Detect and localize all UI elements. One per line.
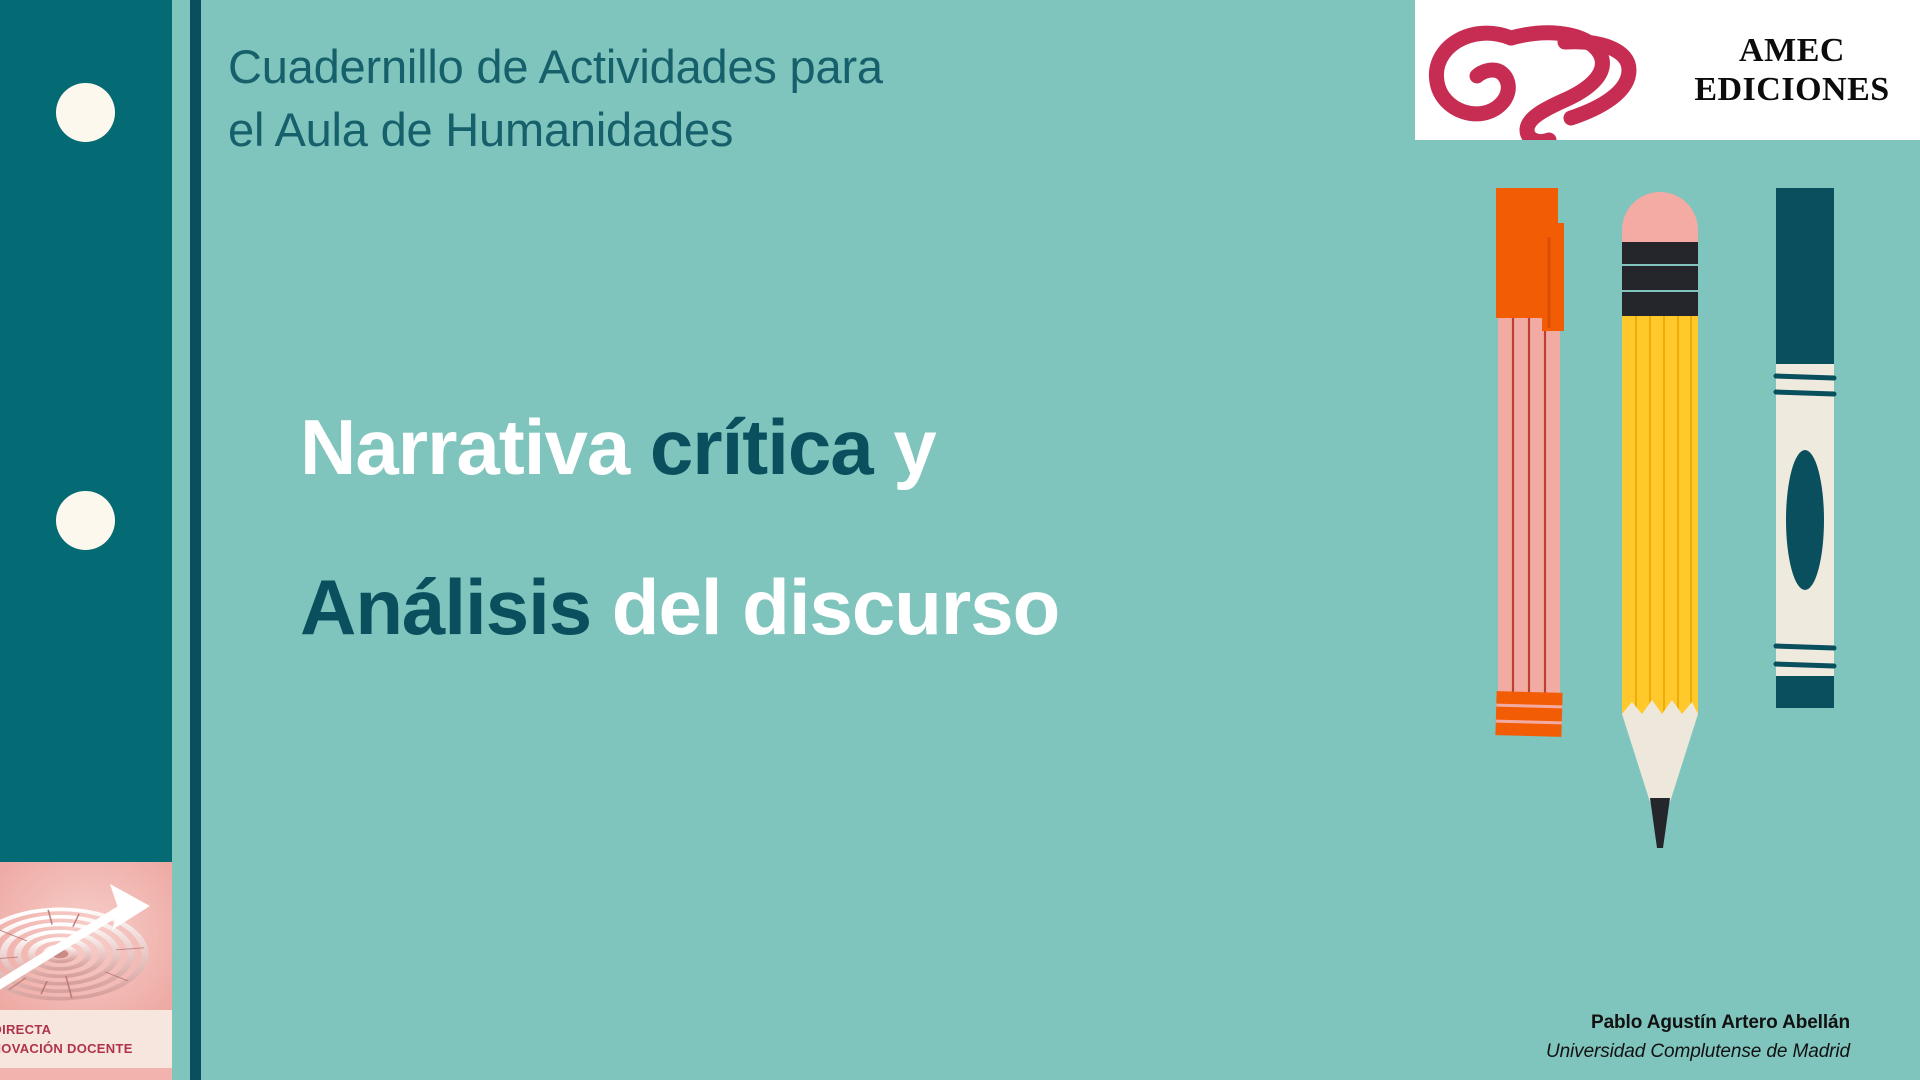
teal-marker — [1776, 188, 1834, 708]
author-name: Pablo Agustín Artero Abellán — [1546, 1009, 1850, 1038]
title-word-narrativa: Narrativa — [300, 403, 650, 491]
badge-text-panel: TA DIRECTA INNOVACIÓN DOCENTE — [0, 1010, 172, 1068]
yellow-pencil — [1622, 192, 1698, 848]
header-subtitle-line-1: Cuadernillo de Actividades para — [228, 36, 1128, 99]
logo-text-line-1: AMEC — [1670, 31, 1914, 70]
header-subtitle: Cuadernillo de Actividades para el Aula … — [228, 36, 1128, 161]
title-word-y: y — [873, 403, 936, 491]
publisher-logo: AMEC EDICIONES — [1415, 0, 1920, 140]
author-affiliation: Universidad Complutense de Madrid — [1546, 1038, 1850, 1067]
maze-with-arrow-icon — [0, 862, 172, 1022]
title-word-del-discurso: del discurso — [591, 563, 1059, 651]
amec-brain-swirl-icon — [1415, 0, 1670, 140]
badge-line-1: TA DIRECTA — [0, 1020, 172, 1040]
sidebar-dot-top — [56, 83, 115, 142]
sidebar-dot-bottom — [56, 491, 115, 550]
innovation-badge: TA DIRECTA INNOVACIÓN DOCENTE — [0, 862, 172, 1080]
writing-tools-illustration — [1480, 180, 1880, 870]
publisher-logo-text: AMEC EDICIONES — [1670, 31, 1920, 110]
title-word-analisis: Análisis — [300, 563, 591, 651]
main-title-line-2: Análisis del discurso — [300, 568, 1350, 646]
logo-text-line-2: EDICIONES — [1670, 70, 1914, 109]
slide-canvas: TA DIRECTA INNOVACIÓN DOCENTE Cuadernill… — [0, 0, 1920, 1080]
header-subtitle-line-2: el Aula de Humanidades — [228, 99, 1128, 162]
sidebar-accent-line — [190, 0, 201, 1080]
main-title: Narrativa crítica y Análisis del discurs… — [300, 408, 1350, 646]
title-word-critica: crítica — [650, 403, 873, 491]
orange-pen — [1495, 188, 1564, 737]
main-title-line-1: Narrativa crítica y — [300, 408, 1350, 486]
author-credit: Pablo Agustín Artero Abellán Universidad… — [1546, 1009, 1850, 1066]
badge-line-2: INNOVACIÓN DOCENTE — [0, 1039, 172, 1059]
